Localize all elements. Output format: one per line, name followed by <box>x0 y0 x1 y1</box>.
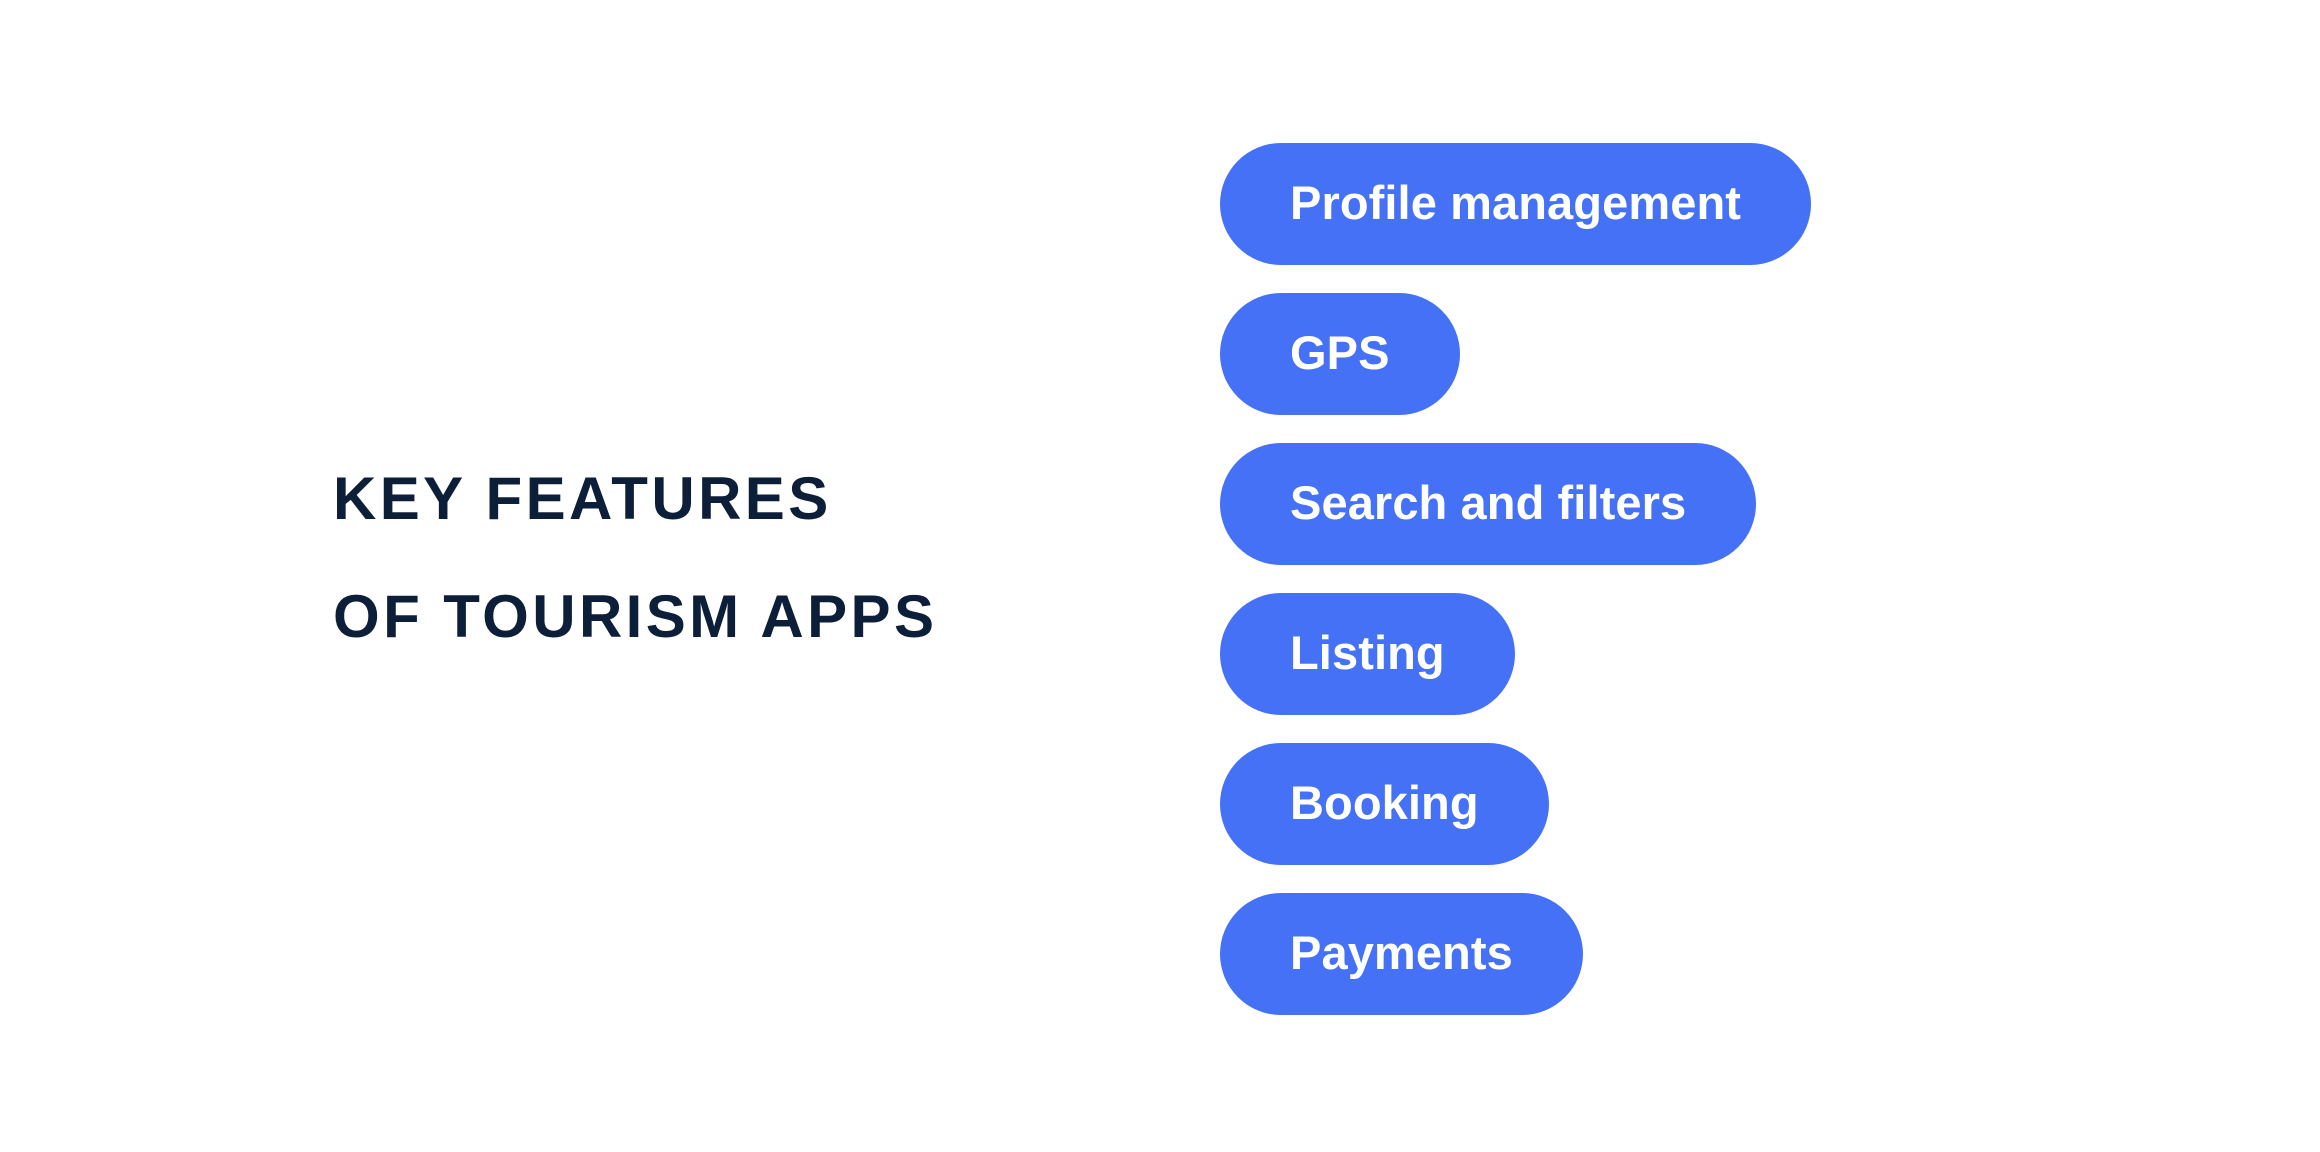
page-title-line-2: OF TOURISM APPS <box>333 558 1093 676</box>
feature-pill-search-and-filters[interactable]: Search and filters <box>1220 443 1756 565</box>
slide-canvas: KEY FEATURES OF TOURISM APPS Profile man… <box>0 0 2320 1152</box>
feature-pill-booking[interactable]: Booking <box>1220 743 1549 865</box>
feature-pill-label: Listing <box>1290 629 1445 676</box>
page-title: KEY FEATURES OF TOURISM APPS <box>333 440 1093 676</box>
feature-pill-label: Search and filters <box>1290 479 1686 526</box>
page-title-line-1: KEY FEATURES <box>333 440 1093 558</box>
feature-pill-label: Booking <box>1290 779 1479 826</box>
feature-pill-profile-management[interactable]: Profile management <box>1220 143 1811 265</box>
feature-pill-label: Payments <box>1290 929 1513 976</box>
feature-pill-payments[interactable]: Payments <box>1220 893 1583 1015</box>
feature-pill-gps[interactable]: GPS <box>1220 293 1460 415</box>
feature-pill-listing[interactable]: Listing <box>1220 593 1515 715</box>
feature-pill-label: GPS <box>1290 329 1390 376</box>
feature-pill-label: Profile management <box>1290 179 1741 226</box>
feature-pill-list: Profile management GPS Search and filter… <box>1220 143 1811 1015</box>
